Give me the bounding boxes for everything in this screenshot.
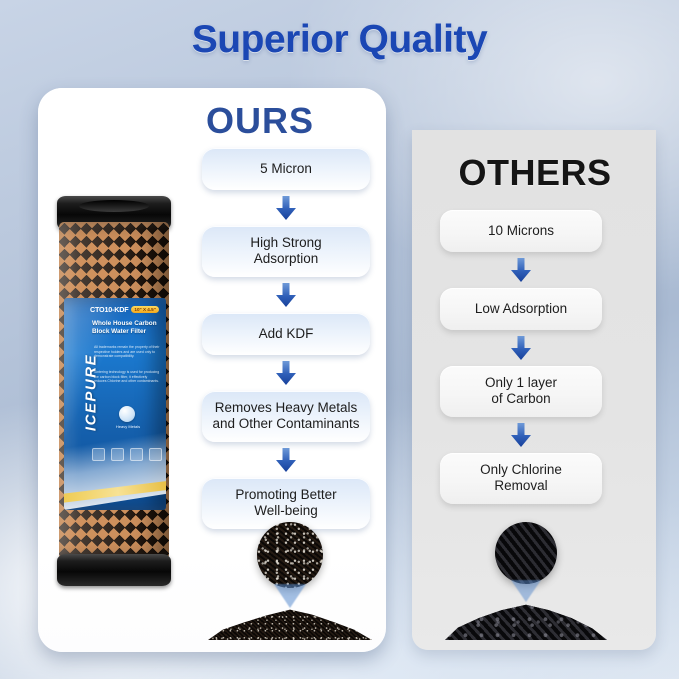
cert-icon-4	[149, 448, 162, 461]
node-line: and Other Contaminants	[212, 416, 359, 431]
others-magnifier-cone	[511, 580, 541, 602]
node-line: Only Chlorine	[480, 462, 562, 477]
label-fine-print-1: All trademarks remain the property of th…	[94, 345, 160, 359]
ours-carbon-illustration	[200, 522, 380, 640]
arrow-down-icon	[273, 282, 299, 308]
label-feature-text: Heavy Metals	[104, 424, 152, 429]
arrow-down-icon	[508, 422, 534, 448]
cartridge-label: CTO10-KDF 10" X 4.5" Whole House CarbonB…	[64, 298, 166, 510]
label-model-row: CTO10-KDF 10" X 4.5"	[90, 305, 164, 314]
cartridge-bottom-cap	[57, 554, 171, 586]
ours-step-1-label: 5 Micron	[260, 161, 312, 177]
arrow-down-icon	[273, 195, 299, 221]
others-carbon-illustration	[440, 522, 615, 640]
others-step-4-label: Only ChlorineRemoval	[480, 462, 562, 495]
others-step-3-label: Only 1 layerof Carbon	[485, 375, 557, 408]
ours-step-3-label: Add KDF	[259, 326, 314, 342]
cert-icon-3	[130, 448, 143, 461]
label-size-badge: 10" X 4.5"	[131, 306, 158, 313]
label-description: Whole House CarbonBlock Water Filter	[92, 320, 162, 336]
ours-carbon-magnifier	[257, 522, 323, 588]
heavy-metals-icon	[119, 406, 135, 422]
label-model: CTO10-KDF	[90, 305, 128, 314]
node-line: Well-being	[254, 503, 318, 518]
others-step-3[interactable]: Only 1 layerof Carbon	[440, 366, 602, 417]
others-carbon-pile	[445, 596, 607, 640]
page-title: Superior Quality	[0, 18, 679, 62]
label-certification-icons	[92, 448, 162, 461]
label-fine-print-2: Sintering technology is used for produci…	[94, 370, 160, 384]
arrow-down-icon	[273, 447, 299, 473]
ours-step-2-label: High StrongAdsorption	[250, 235, 321, 268]
node-line: Removal	[494, 478, 547, 493]
arrow-down-icon	[273, 360, 299, 386]
ours-magnifier-cone	[274, 584, 306, 608]
cert-icon-2	[111, 448, 124, 461]
others-flow: 10 MicronsLow AdsorptionOnly 1 layerof C…	[440, 210, 602, 504]
others-step-2[interactable]: Low Adsorption	[440, 288, 602, 330]
arrow-down-icon	[508, 257, 534, 283]
arrow-down-icon	[508, 335, 534, 361]
ours-step-5-label: Promoting BetterWell-being	[235, 487, 336, 520]
ours-flow: 5 MicronHigh StrongAdsorptionAdd KDFRemo…	[202, 148, 370, 529]
ours-step-3[interactable]: Add KDF	[202, 313, 370, 355]
others-step-2-label: Low Adsorption	[475, 301, 567, 317]
node-line: of Carbon	[491, 391, 550, 406]
product-filter-cartridge: CTO10-KDF 10" X 4.5" Whole House CarbonB…	[55, 196, 173, 588]
others-step-1[interactable]: 10 Microns	[440, 210, 602, 252]
others-step-4[interactable]: Only ChlorineRemoval	[440, 453, 602, 504]
others-carbon-magnifier	[495, 522, 557, 584]
node-line: Adsorption	[254, 251, 319, 266]
node-line: Promoting Better	[235, 487, 336, 502]
ours-step-1[interactable]: 5 Micron	[202, 148, 370, 190]
node-line: Low Adsorption	[475, 301, 567, 316]
node-line: 10 Microns	[488, 223, 554, 238]
others-heading: OTHERS	[430, 152, 640, 194]
others-step-1-label: 10 Microns	[488, 223, 554, 239]
node-line: Add KDF	[259, 326, 314, 341]
node-line: High Strong	[250, 235, 321, 250]
ours-step-2[interactable]: High StrongAdsorption	[202, 226, 370, 277]
node-line: Only 1 layer	[485, 375, 557, 390]
node-line: 5 Micron	[260, 161, 312, 176]
brand-name: ICEPURE	[83, 318, 100, 468]
ours-step-4[interactable]: Removes Heavy Metalsand Other Contaminan…	[202, 391, 370, 442]
ours-step-4-label: Removes Heavy Metalsand Other Contaminan…	[212, 400, 359, 433]
ours-heading: OURS	[160, 100, 360, 142]
infographic-canvas: Superior Quality OURS OTHERS CTO10-KDF 1…	[0, 0, 679, 679]
node-line: Removes Heavy Metals	[215, 400, 358, 415]
